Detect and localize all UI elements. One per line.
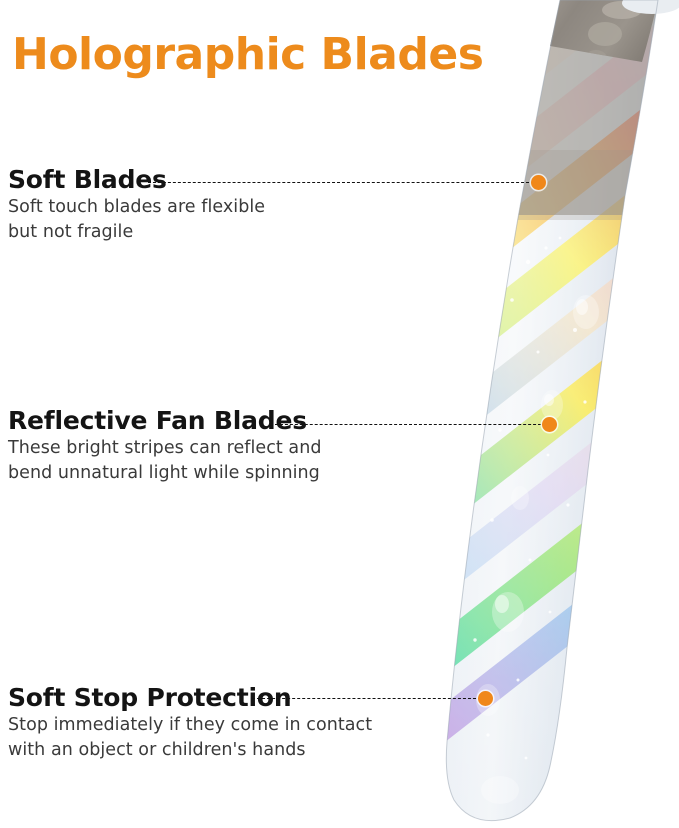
product-image-fan-blade [400, 0, 679, 828]
callout-dot-soft-blades[interactable] [531, 175, 546, 190]
feature-heading-row: Soft Stop Protection [8, 683, 372, 713]
feature-block-soft-stop-protection: Soft Stop Protection Stop immediately if… [8, 683, 372, 763]
feature-body-line-1: Soft touch blades are flexible [8, 195, 265, 220]
blade-body [400, 0, 679, 828]
feature-title-reflective-fan-blades: Reflective Fan Blades [8, 406, 307, 435]
callout-dot-soft-stop-protection[interactable] [478, 691, 493, 706]
feature-heading-row: Soft Blades [8, 165, 265, 195]
feature-block-soft-blades: Soft Blades Soft touch blades are flexib… [8, 165, 265, 245]
feature-body-line-2: but not fragile [8, 220, 265, 245]
feature-body-line-1: Stop immediately if they come in contact [8, 713, 372, 738]
feature-body-soft-blades: Soft touch blades are flexible but not f… [8, 195, 265, 245]
feature-body-line-2: bend unnatural light while spinning [8, 461, 322, 486]
feature-block-reflective-fan-blades: Reflective Fan Blades These bright strip… [8, 406, 322, 486]
feature-body-reflective-fan-blades: These bright stripes can reflect and ben… [8, 436, 322, 486]
feature-body-line-1: These bright stripes can reflect and [8, 436, 322, 461]
feature-body-line-2: with an object or children's hands [8, 738, 372, 763]
feature-title-soft-blades: Soft Blades [8, 165, 167, 194]
feature-title-soft-stop-protection: Soft Stop Protection [8, 683, 292, 712]
callout-dot-reflective-fan-blades[interactable] [542, 417, 557, 432]
feature-heading-row: Reflective Fan Blades [8, 406, 322, 436]
feature-body-soft-stop-protection: Stop immediately if they come in contact… [8, 713, 372, 763]
